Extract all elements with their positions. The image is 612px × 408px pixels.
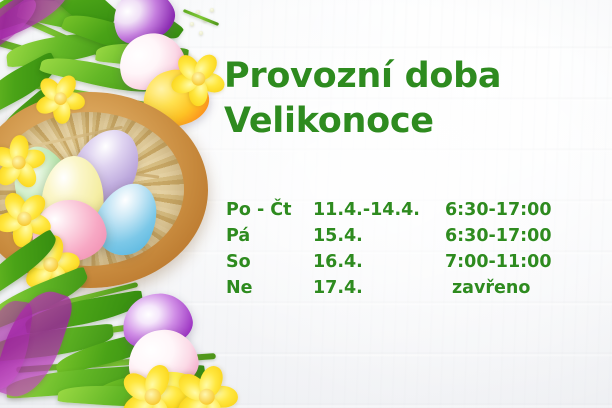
row-day: Pá xyxy=(226,223,313,249)
table-row: Ne 17.4. zavřeno xyxy=(226,275,575,301)
row-date: 15.4. xyxy=(313,223,445,249)
opening-hours-table: Po - Čt 11.4.-14.4. 6:30-17:00 Pá 15.4. … xyxy=(226,197,575,301)
table-row: Pá 15.4. 6:30-17:00 xyxy=(226,223,575,249)
row-date: 11.4.-14.4. xyxy=(313,197,445,223)
table-row: So 16.4. 7:00-11:00 xyxy=(226,249,575,275)
poster-heading: Provozní doba Velikonoce xyxy=(224,54,604,144)
page-title-line2: Velikonoce xyxy=(224,99,604,144)
row-date: 17.4. xyxy=(313,275,445,301)
page-title-line1: Provozní doba xyxy=(224,54,604,99)
row-time: 6:30-17:00 xyxy=(445,223,575,249)
table-row: Po - Čt 11.4.-14.4. 6:30-17:00 xyxy=(226,197,575,223)
row-date: 16.4. xyxy=(313,249,445,275)
row-day: Ne xyxy=(226,275,313,301)
row-time: zavřeno xyxy=(445,275,575,301)
easter-opening-hours-poster: Provozní doba Velikonoce Po - Čt 11.4.-1… xyxy=(0,0,612,408)
row-time: 6:30-17:00 xyxy=(445,197,575,223)
row-day: Po - Čt xyxy=(226,197,313,223)
row-time: 7:00-11:00 xyxy=(445,249,575,275)
row-day: So xyxy=(226,249,313,275)
